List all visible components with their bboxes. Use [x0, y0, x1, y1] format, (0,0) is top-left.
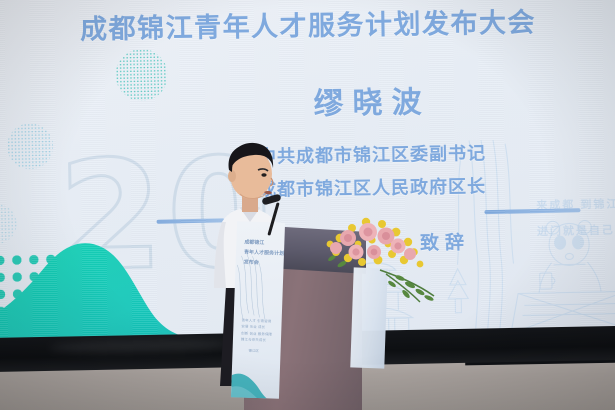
speaker-name: 缪晓波 [313, 77, 431, 123]
yellow-chrysanthemums [327, 218, 424, 268]
panel-footer-text: 锦江区 [249, 348, 259, 353]
podium-front-panel: 成都锦江 青年人才服务计划 发布会 青年人才 引育留用 安居 乐业 成长 创新 … [231, 221, 285, 399]
event-title: 成都锦江青年人才服务计划发布大会 [79, 0, 536, 46]
halftone-circle-blue-icon [7, 123, 54, 170]
decor-slogan-line-2: 进门就是自己人 [537, 221, 615, 239]
panel-body-text: 青年人才 引育留用 安居 乐业 成长 创新 创业 服务保障 锦江与你共成长 [241, 317, 273, 344]
halftone-circle-teal-icon [115, 48, 168, 101]
floral-arrangement [322, 208, 440, 304]
conference-stage-photo: 20 [0, 0, 615, 410]
panel-header-text: 成都锦江 青年人才服务计划 发布会 [243, 237, 284, 268]
